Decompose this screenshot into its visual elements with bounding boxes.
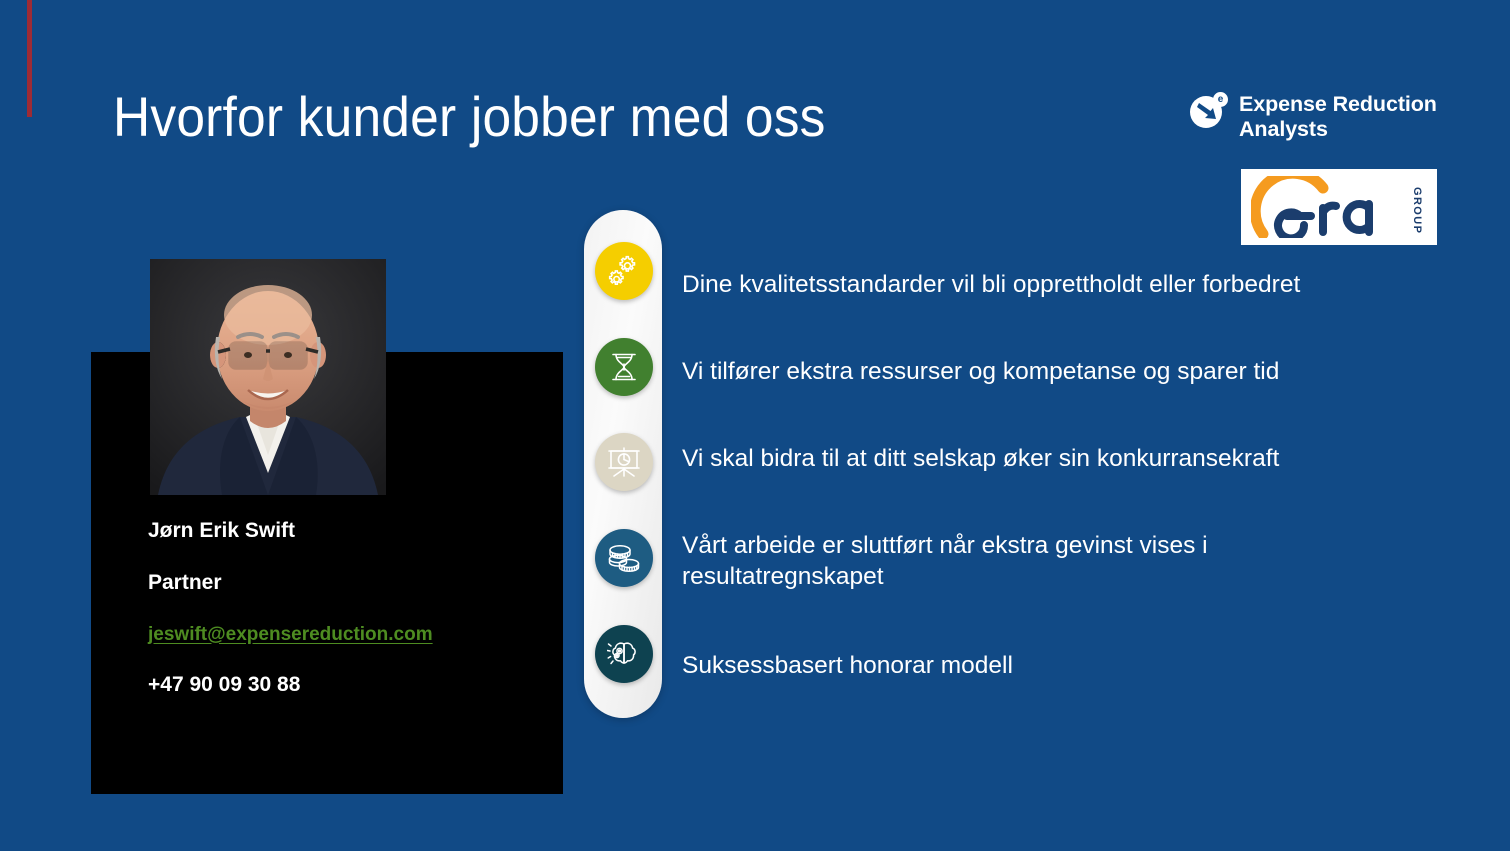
person-name: Jørn Erik Swift (148, 518, 548, 544)
benefit-text-1: Dine kvalitetsstandarder vil bli opprett… (682, 270, 1382, 301)
era-wordmark-text: Expense Reduction Analysts (1239, 92, 1437, 142)
contact-details: Jørn Erik Swift Partner jeswift@expenser… (148, 518, 548, 699)
presentation-slide: Hvorfor kunder jobber med oss e Expense … (0, 0, 1510, 851)
era-superscript-e: e (1213, 92, 1228, 107)
person-phone: +47 90 09 30 88 (148, 672, 548, 698)
benefit-text-3: Vi skal bidra til at ditt selskap øker s… (682, 444, 1382, 475)
benefit-text-5: Suksessbasert honorar modell (682, 651, 1382, 682)
benefit-icon-presentation-chart (595, 433, 653, 491)
icon-capsule-column (584, 210, 662, 718)
benefit-icon-coins (595, 529, 653, 587)
person-email-link[interactable]: jeswift@expensereduction.com (148, 623, 548, 647)
benefit-icon-gears (595, 242, 653, 300)
benefit-text-4: Vårt arbeide er sluttført når ekstra gev… (682, 531, 1257, 592)
benefit-icon-brain-gears (595, 625, 653, 683)
accent-bar (27, 0, 32, 117)
benefit-text-2: Vi tilfører ekstra ressurser og kompetan… (682, 357, 1382, 388)
era-group-suffix: GROUP (1411, 187, 1423, 234)
era-group-logo: GROUP (1241, 169, 1437, 245)
era-wordmark-line2: Analysts (1239, 117, 1437, 142)
era-wordmark-line1: Expense Reduction (1239, 92, 1437, 117)
benefit-icon-hourglass (595, 338, 653, 396)
expense-reduction-analysts-logo: e Expense Reduction Analysts (1190, 92, 1437, 142)
page-title: Hvorfor kunder jobber med oss (113, 88, 826, 147)
era-swoosh-icon: e (1190, 92, 1228, 130)
person-role: Partner (148, 570, 548, 596)
portrait-photo (150, 259, 386, 495)
